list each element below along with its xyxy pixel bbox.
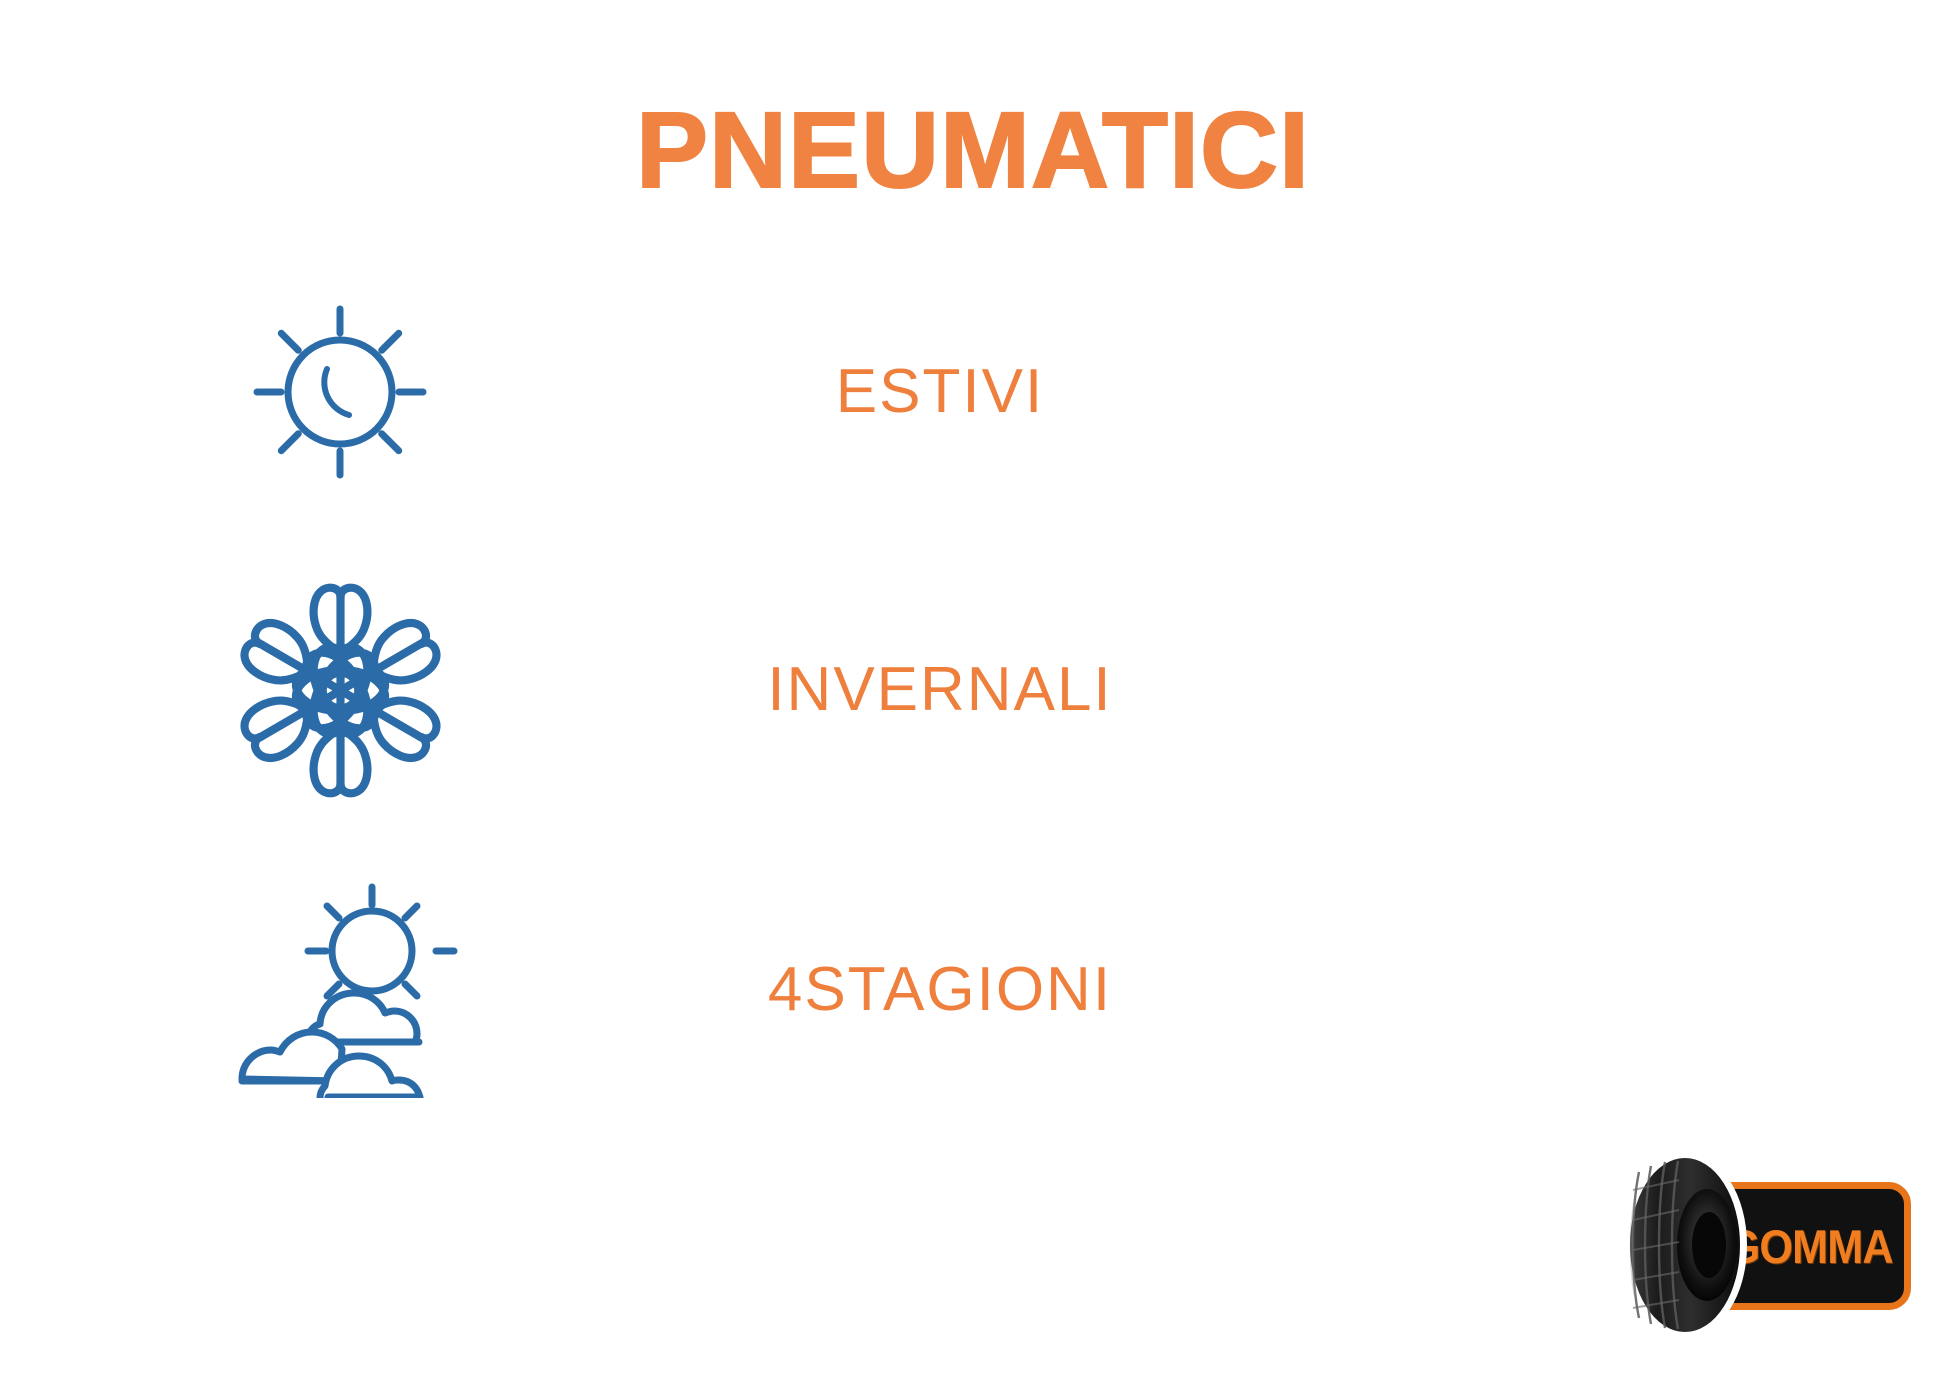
category-row-estivi: ESTIVI [0, 262, 1946, 522]
category-label-invernali: INVERNALI [767, 659, 1112, 721]
icon-cell-estivi [200, 262, 480, 522]
page-title: PNEUMATICI [0, 96, 1946, 204]
category-label-estivi: ESTIVI [836, 361, 1044, 423]
category-row-stagioni: 4STAGIONI [0, 860, 1946, 1120]
sun-icon [235, 287, 445, 497]
snowflake-icon [238, 583, 443, 798]
label-cell-estivi: ESTIVI [560, 262, 1320, 522]
label-cell-invernali: INVERNALI [560, 560, 1320, 820]
category-label-stagioni: 4STAGIONI [768, 959, 1112, 1021]
category-row-invernali: INVERNALI [0, 560, 1946, 820]
regomma-logo: REGOMMA [1621, 1150, 1923, 1350]
label-cell-stagioni: 4STAGIONI [560, 840, 1320, 1140]
icon-cell-stagioni [200, 840, 480, 1140]
icon-cell-invernali [200, 560, 480, 820]
tire-icon [1621, 1150, 1753, 1340]
sun-behind-cloud-icon [220, 883, 460, 1098]
